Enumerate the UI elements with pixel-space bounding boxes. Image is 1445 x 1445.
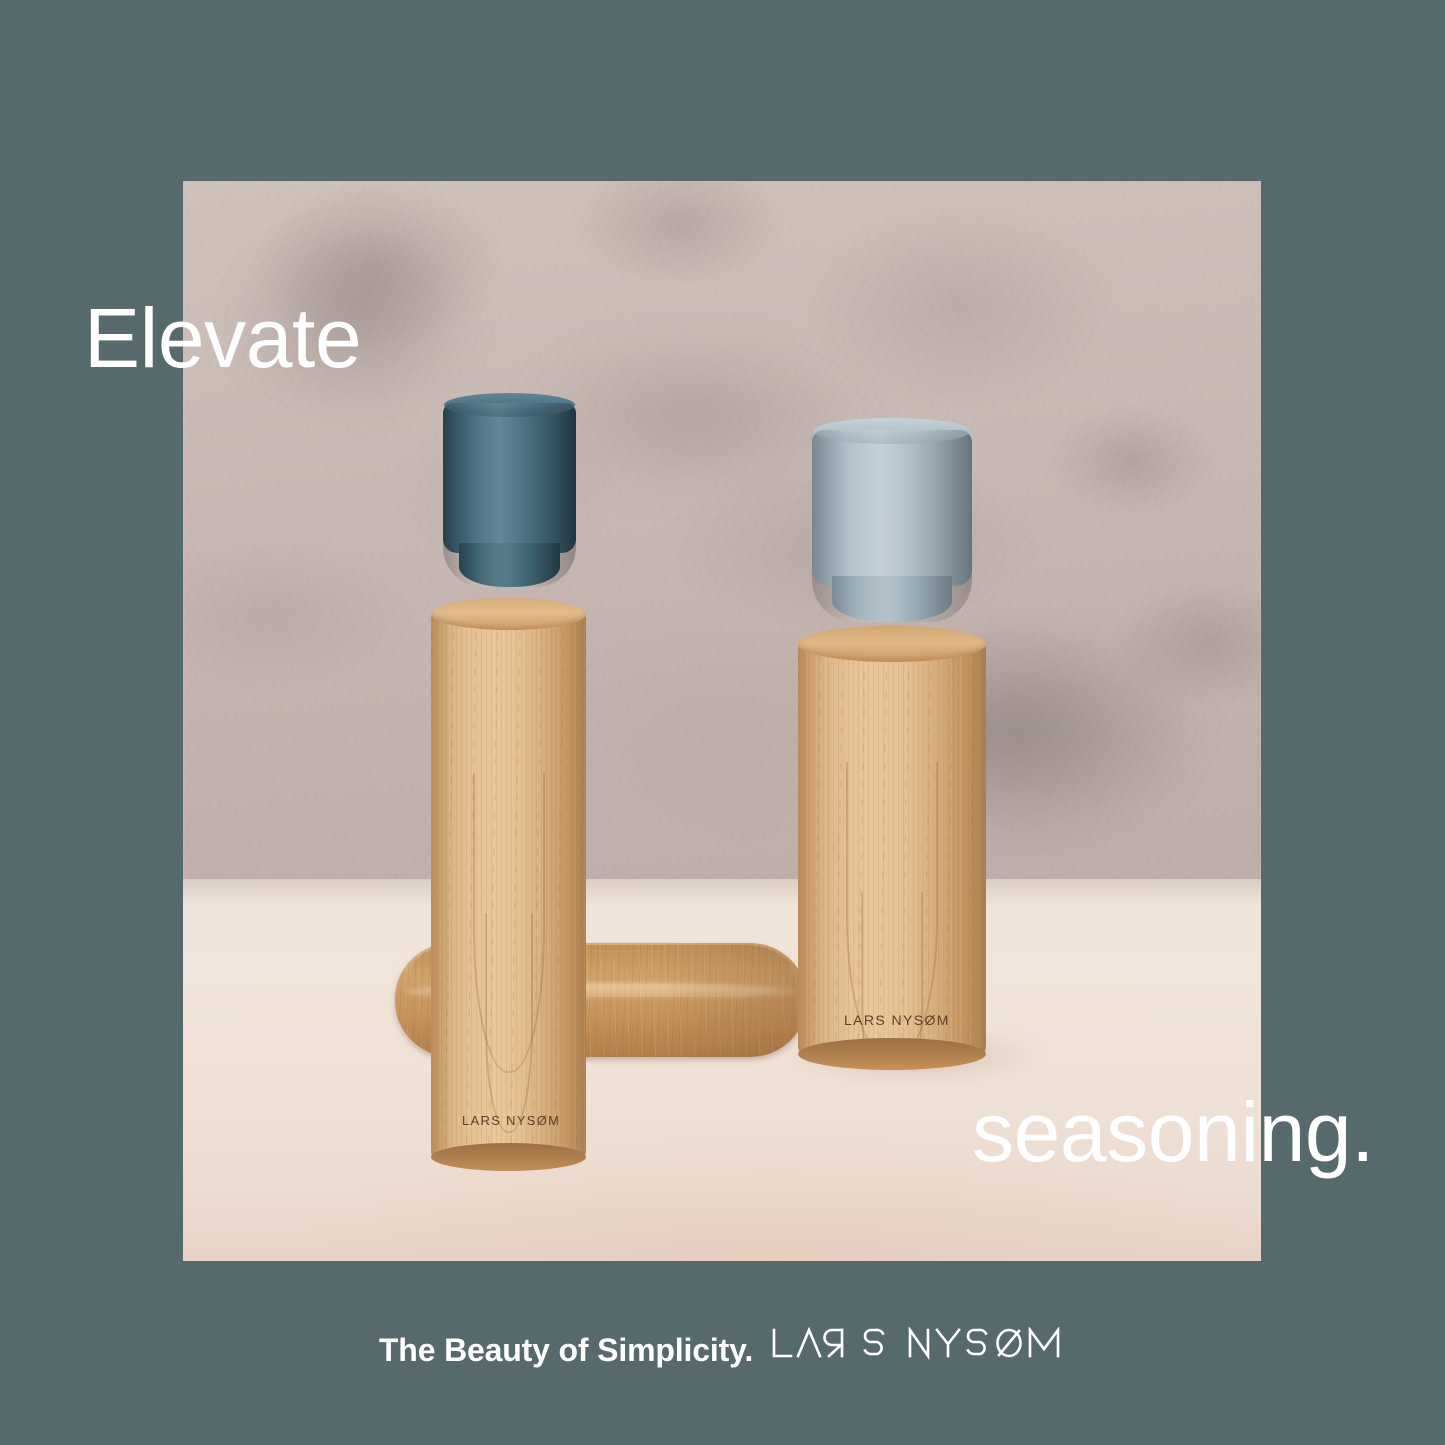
ceramic-cap-dark <box>443 393 576 593</box>
mill-top-rim <box>798 626 986 662</box>
wood-grain-figure <box>485 913 533 1133</box>
brand-wordmark-nysom-icon <box>906 1327 1066 1361</box>
ad-canvas: LARS NYSØM LARS NYSØM Elevate <box>0 0 1445 1445</box>
brand-wordmark <box>770 1327 1066 1361</box>
mill-top-rim <box>431 598 586 630</box>
cap-shading <box>812 430 972 622</box>
tray-right-shading <box>657 943 807 1057</box>
headline-top: Elevate <box>84 296 361 380</box>
cap-shading <box>443 403 576 587</box>
wood-grain-figure <box>473 773 545 1073</box>
footer-bar: The Beauty of Simplicity. <box>0 1327 1445 1369</box>
ceramic-cap-light <box>812 418 972 628</box>
salt-mill-light: LARS NYSØM <box>798 618 986 1058</box>
wood-fleck-texture <box>798 642 986 1058</box>
footer-tagline: The Beauty of Simplicity. <box>379 1332 753 1369</box>
mill-base-rim <box>798 1038 986 1070</box>
mill-wood-body: LARS NYSØM <box>798 642 986 1058</box>
table-horizon-shadow <box>183 879 1261 905</box>
mill-base-rim <box>431 1143 586 1171</box>
mill-wood-body: LARS NYSØM <box>431 613 586 1161</box>
brand-engraving: LARS NYSØM <box>462 1113 560 1128</box>
brand-engraving: LARS NYSØM <box>844 1012 950 1028</box>
brand-wordmark-lars-icon <box>770 1327 888 1361</box>
headline-bottom: seasoning. <box>972 1090 1374 1174</box>
wood-grain-figure <box>861 892 923 1058</box>
wood-fleck-texture <box>431 613 586 1161</box>
pepper-mill-dark: LARS NYSØM <box>431 586 586 1161</box>
wood-grain-figure <box>846 762 938 1058</box>
